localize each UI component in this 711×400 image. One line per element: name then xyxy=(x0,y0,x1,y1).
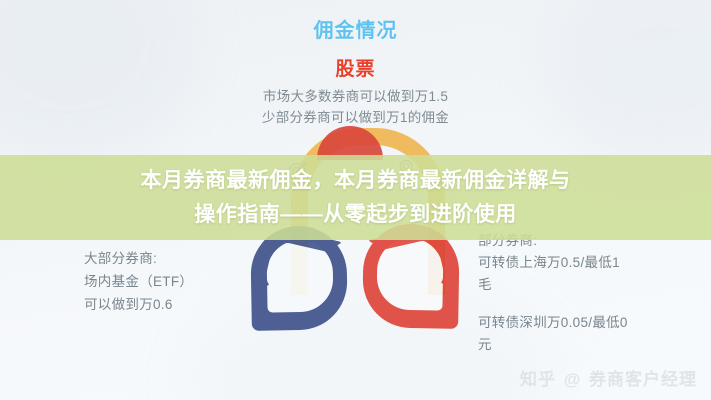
section-title: 股票 xyxy=(0,54,711,81)
left-column-line-1: 场内基金（ETF） xyxy=(84,270,193,293)
lead-line-1: 市场大多数券商可以做到万1.5 xyxy=(0,86,711,107)
left-column-line-2: 可以做到万0.6 xyxy=(84,293,193,316)
lead-paragraph: 市场大多数券商可以做到万1.5 少部分券商可以做到万1的佣金 xyxy=(0,86,711,128)
watermark-author: 券商客户经理 xyxy=(589,370,697,389)
article-cover-image: 佣金情况 股票 市场大多数券商可以做到万1.5 少部分券商可以做到万1的佣金 大… xyxy=(0,0,711,400)
heading-block: 佣金情况 股票 xyxy=(0,14,711,81)
left-column-header: 大部分券商: xyxy=(84,247,193,270)
watermark: 知乎 @ 券商客户经理 xyxy=(520,365,697,390)
column-spacer xyxy=(478,296,628,312)
right-column-block-1: 可转债上海万0.5/最低1毛 xyxy=(478,252,628,296)
banner-title-line-2: 操作指南——从零起步到进阶使用 xyxy=(194,198,517,232)
left-info-column: 大部分券商: 场内基金（ETF） 可以做到万0.6 xyxy=(84,247,193,316)
watermark-site: 知乎 xyxy=(520,370,556,389)
page-title: 佣金情况 xyxy=(0,14,711,43)
right-column-block-2: 可转债深圳万0.05/最低0元 xyxy=(478,312,628,356)
right-info-column: 部分券商: 可转债上海万0.5/最低1毛 可转债深圳万0.05/最低0元 xyxy=(478,229,628,356)
swirl-shape-blue xyxy=(250,225,348,331)
banner-title-line-1: 本月券商最新佣金，本月券商最新佣金详解与 xyxy=(141,164,571,198)
watermark-at: @ xyxy=(564,370,582,389)
title-banner-overlay: 本月券商最新佣金，本月券商最新佣金详解与 操作指南——从零起步到进阶使用 xyxy=(0,155,711,240)
lead-line-2: 少部分券商可以做到万1的佣金 xyxy=(0,107,711,128)
